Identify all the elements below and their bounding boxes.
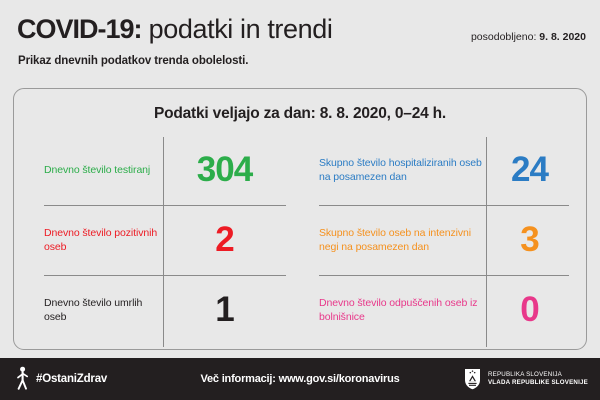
row-divider <box>44 275 286 276</box>
metric-value: 24 <box>486 152 579 188</box>
last-updated-label: posodobljeno: <box>471 31 539 43</box>
page-title: COVID-19: podatki in trendi <box>17 14 332 44</box>
data-card: Podatki veljajo za dan: 8. 8. 2020, 0–24… <box>13 88 587 350</box>
metric-label: Dnevno število odpuščenih oseb iz bolniš… <box>313 296 486 324</box>
government-logo-text: REPUBLIKA SLOVENIJA VLADA REPUBLIKE SLOV… <box>488 371 588 388</box>
metric-label: Skupno število hospitaliziranih oseb na … <box>313 156 486 184</box>
metric-row-discharged: Dnevno število odpuščenih oseb iz bolniš… <box>313 275 579 345</box>
metric-value: 3 <box>486 222 579 258</box>
page-title-strong: COVID-19: <box>17 14 142 44</box>
metric-label: Dnevno število pozitivnih oseb <box>38 226 163 254</box>
metric-row-intensive-care: Skupno število oseb na intenzivni negi n… <box>313 205 579 275</box>
metric-row-daily-tests: Dnevno število testiranj 304 <box>38 135 304 205</box>
metric-label: Dnevno število umrlih oseb <box>38 296 163 324</box>
metrics-block-right: Skupno število hospitaliziranih oseb na … <box>313 135 579 351</box>
metric-row-daily-positive: Dnevno število pozitivnih oseb 2 <box>38 205 304 275</box>
row-divider <box>319 205 569 206</box>
metric-value: 2 <box>163 222 304 258</box>
metrics-block-left: Dnevno število testiranj 304 Dnevno štev… <box>38 135 304 351</box>
metric-label: Dnevno število testiranj <box>38 163 163 177</box>
infographic-page: COVID-19: podatki in trendi Prikaz dnevn… <box>0 0 600 400</box>
page-footer: #OstaniZdrav Več informacij: www.gov.si/… <box>0 358 600 400</box>
page-title-light: podatki in trendi <box>142 14 333 44</box>
government-logo-line2: VLADA REPUBLIKE SLOVENIJE <box>488 379 588 388</box>
page-header: COVID-19: podatki in trendi Prikaz dnevn… <box>0 0 600 82</box>
row-divider <box>44 205 286 206</box>
metrics-grid: Dnevno število testiranj 304 Dnevno štev… <box>14 135 588 351</box>
metric-value: 304 <box>163 152 304 188</box>
metric-row-hospitalized: Skupno število hospitaliziranih oseb na … <box>313 135 579 205</box>
card-title: Podatki veljajo za dan: 8. 8. 2020, 0–24… <box>14 105 586 123</box>
row-divider <box>319 275 569 276</box>
metric-label: Skupno število oseb na intenzivni negi n… <box>313 226 486 254</box>
slovenia-coat-of-arms-icon <box>464 368 481 390</box>
metric-value: 1 <box>163 292 304 328</box>
government-logo-line1: REPUBLIKA SLOVENIJA <box>488 371 588 380</box>
metric-row-daily-deaths: Dnevno število umrlih oseb 1 <box>38 275 304 345</box>
last-updated: posodobljeno: 9. 8. 2020 <box>471 31 586 43</box>
page-subtitle: Prikaz dnevnih podatkov trenda obolelost… <box>18 55 248 67</box>
footer-government-logo: REPUBLIKA SLOVENIJA VLADA REPUBLIKE SLOV… <box>464 358 588 400</box>
last-updated-date: 9. 8. 2020 <box>539 31 586 43</box>
footer-more-info-label: Več informacij: www.gov.si/koronavirus <box>200 373 399 385</box>
metric-value: 0 <box>486 292 579 328</box>
